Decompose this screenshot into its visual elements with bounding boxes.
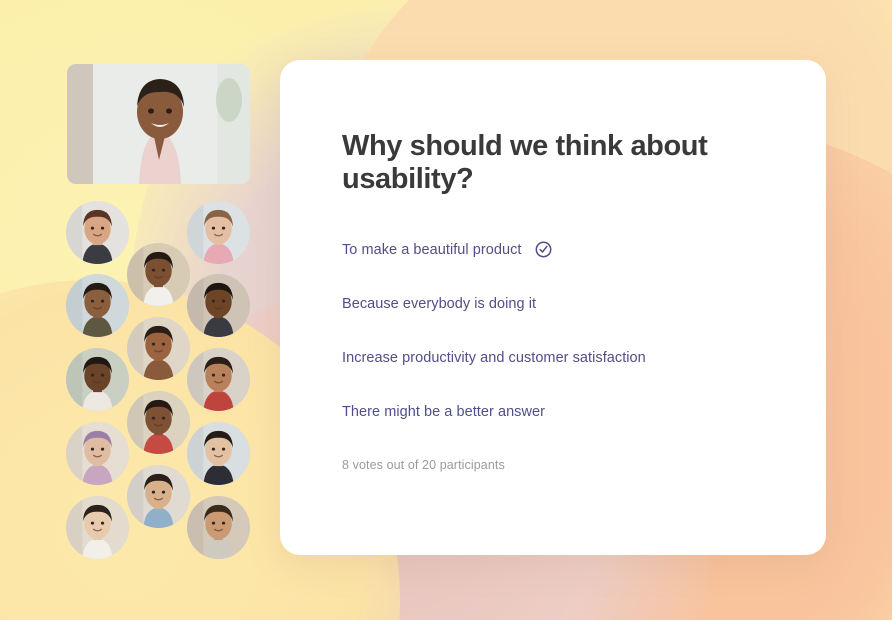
participant-avatar[interactable]	[187, 496, 250, 559]
participant-avatar[interactable]	[187, 274, 250, 337]
participant-avatar[interactable]	[66, 496, 129, 559]
active-speaker-video-tile[interactable]	[67, 64, 250, 184]
participant-avatar[interactable]	[187, 201, 250, 264]
poll-card: Why should we think about usability? To …	[280, 60, 826, 555]
poll-option[interactable]: Because everybody is doing it	[342, 296, 774, 312]
meeting-poll-screen: Why should we think about usability? To …	[0, 0, 892, 620]
participant-avatar-photo	[66, 274, 129, 337]
participant-avatar[interactable]	[127, 243, 190, 306]
participant-avatar-photo	[127, 243, 190, 306]
participant-avatar-photo	[127, 391, 190, 454]
participant-avatar[interactable]	[127, 317, 190, 380]
participant-avatar-photo	[127, 465, 190, 528]
poll-question: Why should we think about usability?	[342, 130, 732, 196]
participant-avatar[interactable]	[66, 348, 129, 411]
participant-avatar[interactable]	[187, 422, 250, 485]
poll-option-label: Because everybody is doing it	[342, 296, 536, 312]
participant-avatar-photo	[187, 201, 250, 264]
participant-avatar-photo	[127, 317, 190, 380]
participant-avatar[interactable]	[66, 201, 129, 264]
participant-avatar[interactable]	[66, 422, 129, 485]
participant-avatar[interactable]	[127, 465, 190, 528]
participant-avatar-photo	[187, 348, 250, 411]
participant-avatar[interactable]	[66, 274, 129, 337]
participant-avatar-photo	[187, 422, 250, 485]
poll-option[interactable]: To make a beautiful product	[342, 241, 774, 258]
participant-avatar-photo	[66, 496, 129, 559]
participant-avatar-photo	[187, 496, 250, 559]
participant-avatar[interactable]	[187, 348, 250, 411]
poll-option-label: There might be a better answer	[342, 404, 545, 420]
participants-panel	[0, 0, 270, 620]
check-circle-icon	[535, 241, 552, 258]
poll-vote-summary: 8 votes out of 20 participants	[342, 458, 774, 472]
poll-option-label: To make a beautiful product	[342, 242, 522, 258]
participant-avatar[interactable]	[127, 391, 190, 454]
participant-avatar-photo	[66, 348, 129, 411]
poll-options-list: To make a beautiful productBecause every…	[342, 241, 774, 420]
poll-option[interactable]: There might be a better answer	[342, 404, 774, 420]
poll-option[interactable]: Increase productivity and customer satis…	[342, 350, 774, 366]
active-speaker-photo	[67, 64, 250, 184]
participant-avatar-photo	[66, 422, 129, 485]
participant-avatar-photo	[66, 201, 129, 264]
participant-avatar-photo	[187, 274, 250, 337]
poll-option-label: Increase productivity and customer satis…	[342, 350, 646, 366]
